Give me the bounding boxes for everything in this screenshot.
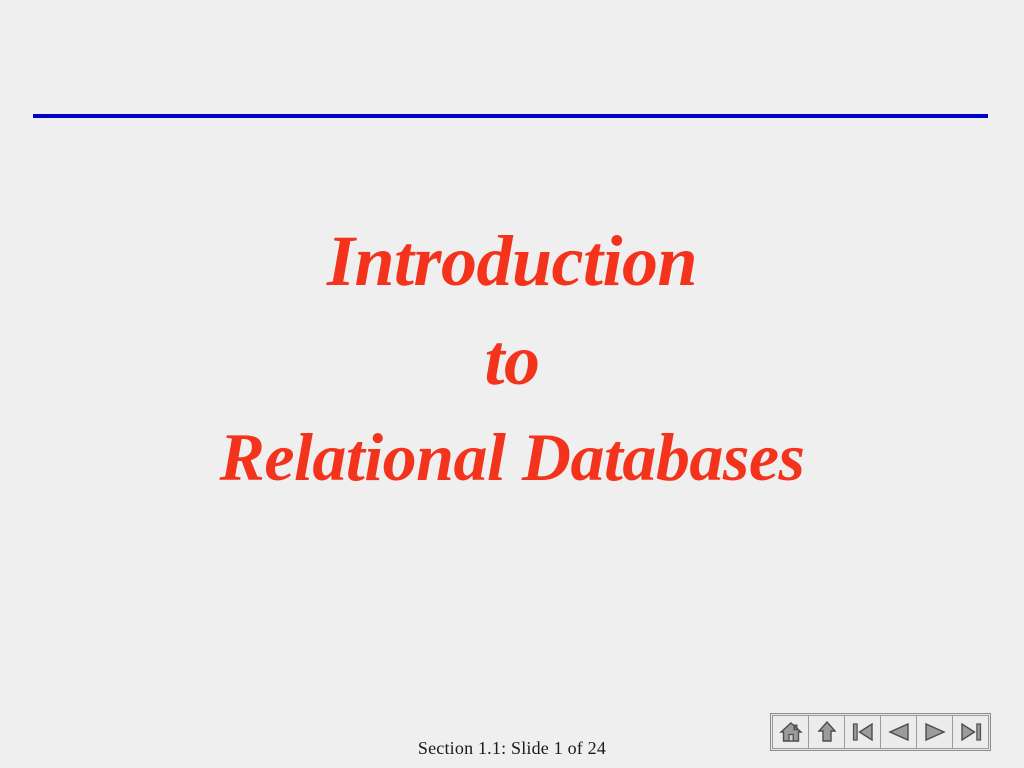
navigation-toolbar (770, 713, 991, 751)
top-divider-rule (33, 114, 988, 118)
up-button[interactable] (808, 715, 845, 749)
title-line-1: Introduction (0, 212, 1024, 311)
home-icon (779, 721, 803, 743)
title-line-3: Relational Databases (0, 411, 1024, 505)
skip-to-end-icon (959, 721, 983, 743)
previous-slide-button[interactable] (880, 715, 917, 749)
triangle-right-icon (923, 721, 947, 743)
arrow-up-icon (817, 720, 837, 744)
title-line-2: to (0, 311, 1024, 410)
triangle-left-icon (887, 721, 911, 743)
home-button[interactable] (772, 715, 809, 749)
slide-title: Introduction to Relational Databases (0, 212, 1024, 505)
slide-canvas: Introduction to Relational Databases Sec… (0, 0, 1024, 768)
last-slide-button[interactable] (952, 715, 989, 749)
first-slide-button[interactable] (844, 715, 881, 749)
skip-to-start-icon (851, 721, 875, 743)
next-slide-button[interactable] (916, 715, 953, 749)
